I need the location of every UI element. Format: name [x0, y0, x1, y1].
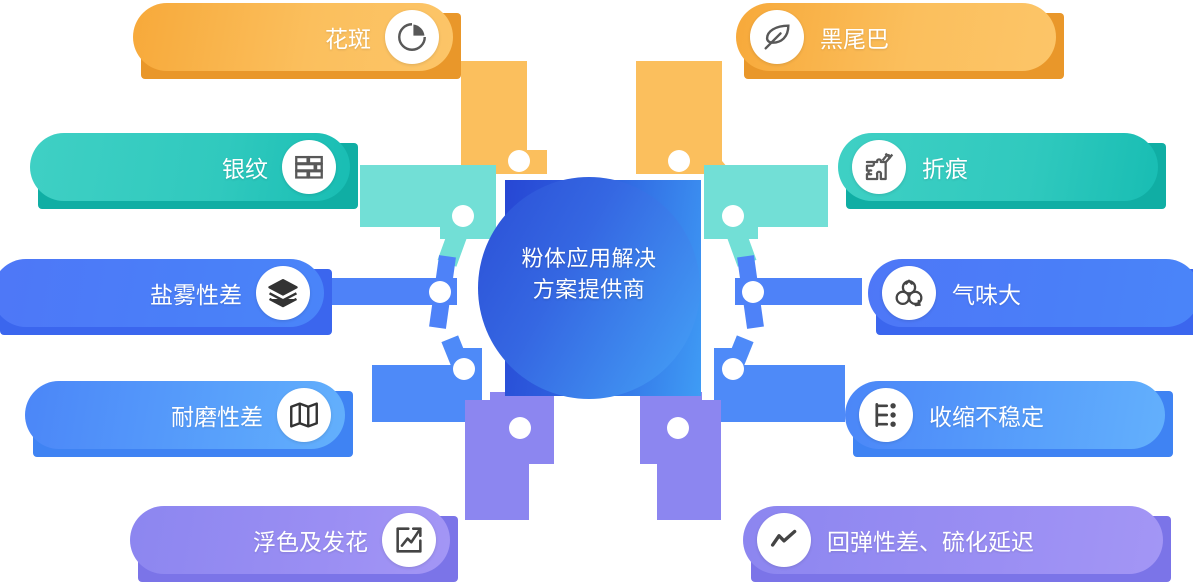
sitemap-icon — [859, 388, 913, 442]
bricks-icon — [282, 140, 336, 194]
pill-label: 收缩不稳定 — [929, 398, 1044, 432]
pill-label: 浮色及发花 — [253, 523, 368, 557]
label-pill-hei-wei-ba[interactable]: 黑尾巴 — [736, 3, 1056, 71]
pill-label: 银纹 — [222, 150, 268, 184]
pill-label: 黑尾巴 — [820, 20, 889, 54]
puzzle-icon — [852, 140, 906, 194]
connector-dot-bottom-right — [667, 417, 689, 439]
label-pill-qi-wei-da[interactable]: 气味大 — [868, 259, 1193, 327]
leaf-icon — [750, 10, 804, 64]
label-pill-nai-mo[interactable]: 耐磨性差 — [25, 381, 345, 449]
layers-icon — [256, 266, 310, 320]
center-title-line2: 方案提供商 — [478, 274, 700, 305]
line-chart-icon — [757, 513, 811, 567]
pill-label: 花斑 — [325, 20, 371, 54]
connector-dot-bar-left — [429, 281, 451, 303]
label-pill-zhe-hen[interactable]: 折痕 — [838, 133, 1158, 201]
center-title-line1: 粉体应用解决 — [478, 243, 700, 274]
infographic-canvas: 粉体应用解决 方案提供商 花斑 银纹 — [0, 0, 1193, 577]
connector-dot-low-left — [453, 358, 475, 380]
connector-dot-bottom-left — [509, 417, 531, 439]
connector-dot-mid-left — [452, 205, 474, 227]
label-pill-fu-se[interactable]: 浮色及发花 — [130, 506, 450, 574]
label-pill-shou-suo[interactable]: 收缩不稳定 — [845, 381, 1165, 449]
pill-label: 盐雾性差 — [150, 276, 242, 310]
recycle-icon — [882, 266, 936, 320]
pill-label: 回弹性差、硫化延迟 — [827, 523, 1034, 557]
label-pill-yan-wu[interactable]: 盐雾性差 — [0, 259, 324, 327]
pie-chart-icon — [385, 10, 439, 64]
connector-dot-top-right — [668, 150, 690, 172]
connector-block-low-right — [740, 365, 845, 422]
connector-dot-top-left — [508, 150, 530, 172]
pill-label: 耐磨性差 — [171, 398, 263, 432]
connector-dot-mid-right — [722, 205, 744, 227]
connector-dot-bar-right — [742, 281, 764, 303]
pill-label: 折痕 — [922, 150, 968, 184]
map-icon — [277, 388, 331, 442]
trend-box-icon — [382, 513, 436, 567]
pill-label: 气味大 — [952, 276, 1021, 310]
connector-dot-low-right — [722, 358, 744, 380]
label-pill-hui-tan[interactable]: 回弹性差、硫化延迟 — [743, 506, 1163, 574]
label-pill-yin-wen[interactable]: 银纹 — [30, 133, 350, 201]
center-title: 粉体应用解决 方案提供商 — [478, 243, 700, 305]
label-pill-hua-ban[interactable]: 花斑 — [133, 3, 453, 71]
